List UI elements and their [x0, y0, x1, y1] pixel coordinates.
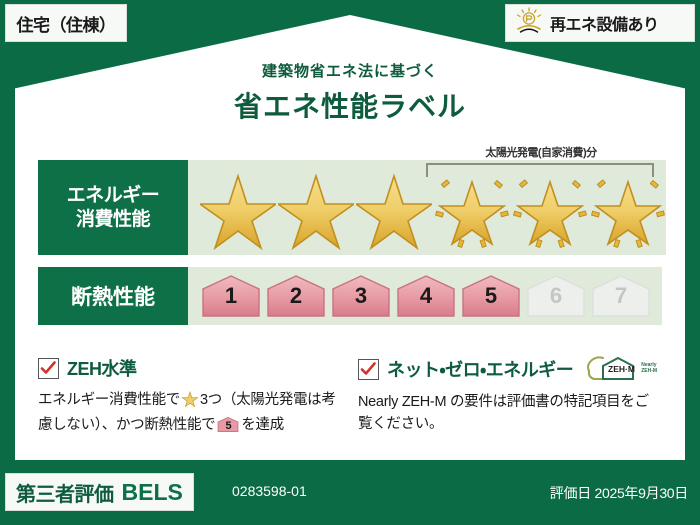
insulation-level-value: 7: [615, 283, 627, 309]
zeh-desc-part2: 3つ（太陽光発電: [200, 392, 307, 408]
zeh-m-logo: ZEH·M Nearly ZEH-M: [585, 355, 657, 383]
evaluation-date: 評価日 2025年9月30日: [550, 483, 688, 503]
insulation-level-badge: 4: [395, 273, 457, 319]
bels-logo-text: BELS: [122, 479, 183, 506]
zeh-standard-block: ZEH水準 エネルギー消費性能で3つ（太陽光発電は考慮しない）、かつ断熱性能で5…: [38, 355, 338, 441]
zeh-m-logo-side-text: Nearly ZEH-M: [641, 363, 657, 375]
net-zero-energy-title: ネット・ゼロ・エネルギー: [387, 356, 573, 382]
zeh-desc-part4: を達成: [241, 417, 284, 433]
insulation-level-value: 5: [485, 283, 497, 309]
footer-bar: 第三者評価 BELS 0283598-01 評価日 2025年9月30日: [0, 465, 700, 525]
label-subtitle: 建築物省エネ法に基づく: [0, 60, 700, 81]
checkbox-checked-icon: [358, 359, 379, 380]
energy-label-line1: エネルギー: [67, 184, 160, 208]
star-filled: [278, 166, 354, 250]
zeh-standard-heading: ZEH水準: [38, 355, 338, 381]
zeh-standard-title: ZEH水準: [67, 355, 137, 381]
insulation-level-badge: 2: [265, 273, 327, 319]
renewable-equipment-chip: 再エネ設備あり: [505, 4, 695, 42]
net-zero-energy-heading: ネット・ゼロ・エネルギー ZEH·M Nearly ZEH-M: [358, 355, 658, 383]
solar-generation-caption: 太陽光発電(自家消費)分: [416, 144, 666, 160]
energy-performance-label: エネルギー 消費性能: [38, 160, 188, 255]
sun-solar-icon: [514, 7, 544, 40]
bels-energy-label: 住宅（住棟） 再エネ設備あり 建築物省エネ法に基づく: [0, 0, 700, 525]
star-filled-solar: [434, 166, 510, 250]
insulation-level-badge: 1: [200, 273, 262, 319]
certificate-number: 0283598-01: [232, 483, 307, 499]
svg-text:ZEH·M: ZEH·M: [608, 364, 635, 374]
star-filled-solar: [512, 166, 588, 250]
checkbox-checked-icon: [38, 358, 59, 379]
insulation-performance-label: 断熱性能: [38, 267, 188, 325]
insulation-level-badge: 3: [330, 273, 392, 319]
net-zero-energy-block: ネット・ゼロ・エネルギー ZEH·M Nearly ZEH-M Nearly Z…: [358, 355, 658, 436]
insulation-level-badge-inactive: 6: [525, 273, 587, 319]
inline-star-icon: [181, 390, 199, 414]
star-filled: [200, 166, 276, 250]
building-type-chip: 住宅（住棟）: [5, 4, 127, 42]
insulation-level-value: 2: [290, 283, 302, 309]
zeh-desc-part1: エネルギー消費性能で: [38, 392, 180, 408]
star-filled-solar: [590, 166, 666, 250]
building-type-label: 住宅（住棟）: [17, 11, 116, 36]
title-block: 建築物省エネ法に基づく 省エネ性能ラベル: [0, 60, 700, 125]
insulation-level-badge-inactive: 7: [590, 273, 652, 319]
third-party-evaluation-label: 第三者評価: [16, 478, 114, 507]
insulation-level-value: 4: [420, 283, 432, 309]
net-zero-energy-description: Nearly ZEH-M の要件は評価書の特記項目をご覧ください。: [358, 391, 658, 436]
insulation-level-scale: 1 2 3 4: [188, 273, 652, 319]
zeh-standard-description: エネルギー消費性能で3つ（太陽光発電は考慮しない）、かつ断熱性能で5を達成: [38, 389, 338, 441]
star-filled: [356, 166, 432, 250]
bels-certification-chip: 第三者評価 BELS: [5, 473, 194, 511]
renewable-equipment-label: 再エネ設備あり: [550, 11, 659, 35]
inline-insulation-level-value: 5: [217, 418, 239, 435]
energy-label-line2: 消費性能: [76, 208, 150, 232]
insulation-level-badge: 5: [460, 273, 522, 319]
insulation-level-value: 6: [550, 283, 562, 309]
page-title: 省エネ性能ラベル: [0, 85, 700, 125]
energy-performance-value: 太陽光発電(自家消費)分: [188, 160, 666, 255]
insulation-level-value: 3: [355, 283, 367, 309]
star-rating: [188, 166, 666, 250]
insulation-level-value: 1: [225, 283, 237, 309]
inline-insulation-level-icon: 5: [217, 416, 239, 440]
zeh-m-side-line2: ZEH-M: [641, 368, 657, 374]
energy-performance-row: エネルギー 消費性能 太陽光発電(自家消費)分: [38, 160, 662, 255]
insulation-performance-row: 断熱性能 1 2: [38, 267, 662, 325]
insulation-performance-value: 1 2 3 4: [188, 267, 662, 325]
